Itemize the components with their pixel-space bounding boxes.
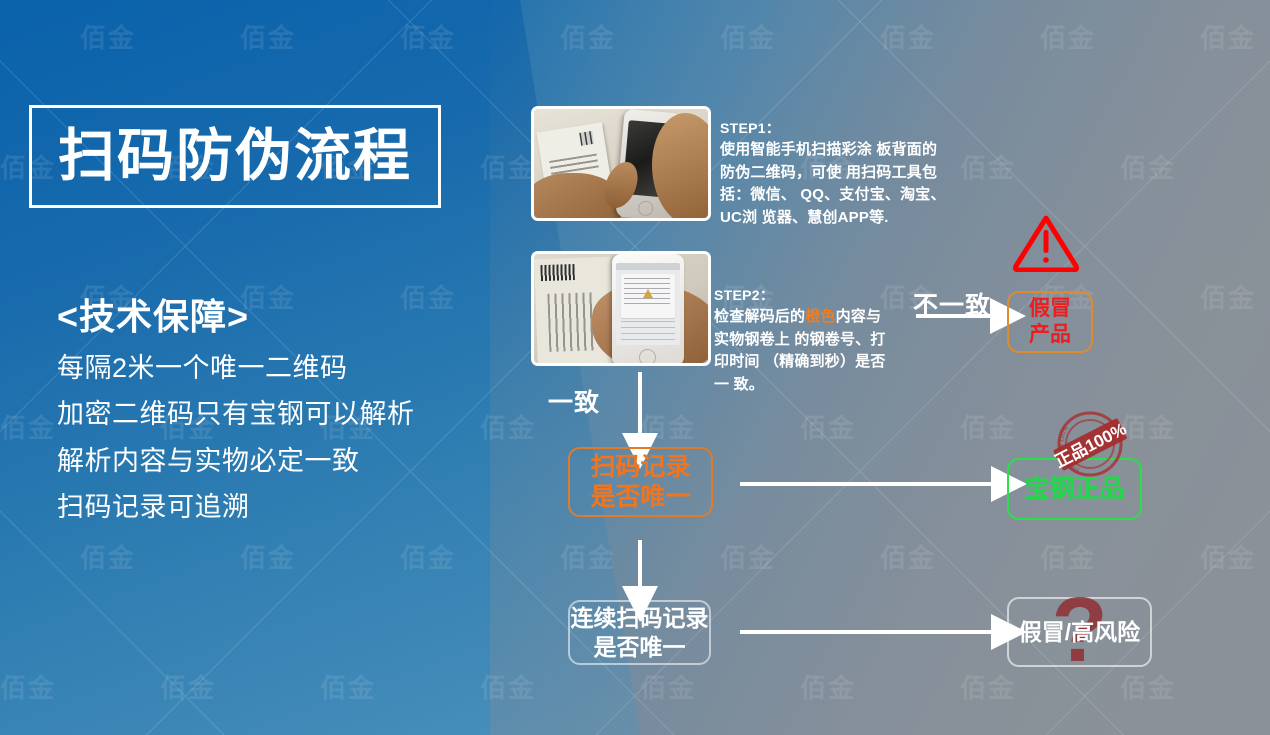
genuine-100-stamp-icon: 100% 100% 100% 正品100%: [1040, 408, 1140, 486]
box-counterfeit-line1: 假冒: [1029, 296, 1071, 322]
box-risk-label: 假冒/高风险: [1019, 618, 1140, 646]
box-counterfeit-product[interactable]: 假冒 产品: [1007, 291, 1093, 353]
box-unique-line2: 是否唯一: [590, 482, 690, 513]
box-continuous-line1: 连续扫码记录: [571, 604, 709, 632]
box-counterfeit-line2: 产品: [1029, 322, 1071, 348]
box-scan-record-unique[interactable]: 扫码记录 是否唯一: [568, 447, 713, 517]
box-continuous-scan-unique[interactable]: 连续扫码记录 是否唯一: [568, 600, 711, 665]
box-unique-line1: 扫码记录: [590, 452, 690, 483]
box-fake-or-high-risk[interactable]: ? 假冒/高风险: [1007, 597, 1152, 667]
slide-canvas: 佰金佰金佰金佰金佰金佰金佰金佰金佰金佰金佰金佰金佰金佰金佰金佰金佰金佰金佰金佰金…: [0, 0, 1270, 735]
box-continuous-line2: 是否唯一: [571, 633, 709, 661]
